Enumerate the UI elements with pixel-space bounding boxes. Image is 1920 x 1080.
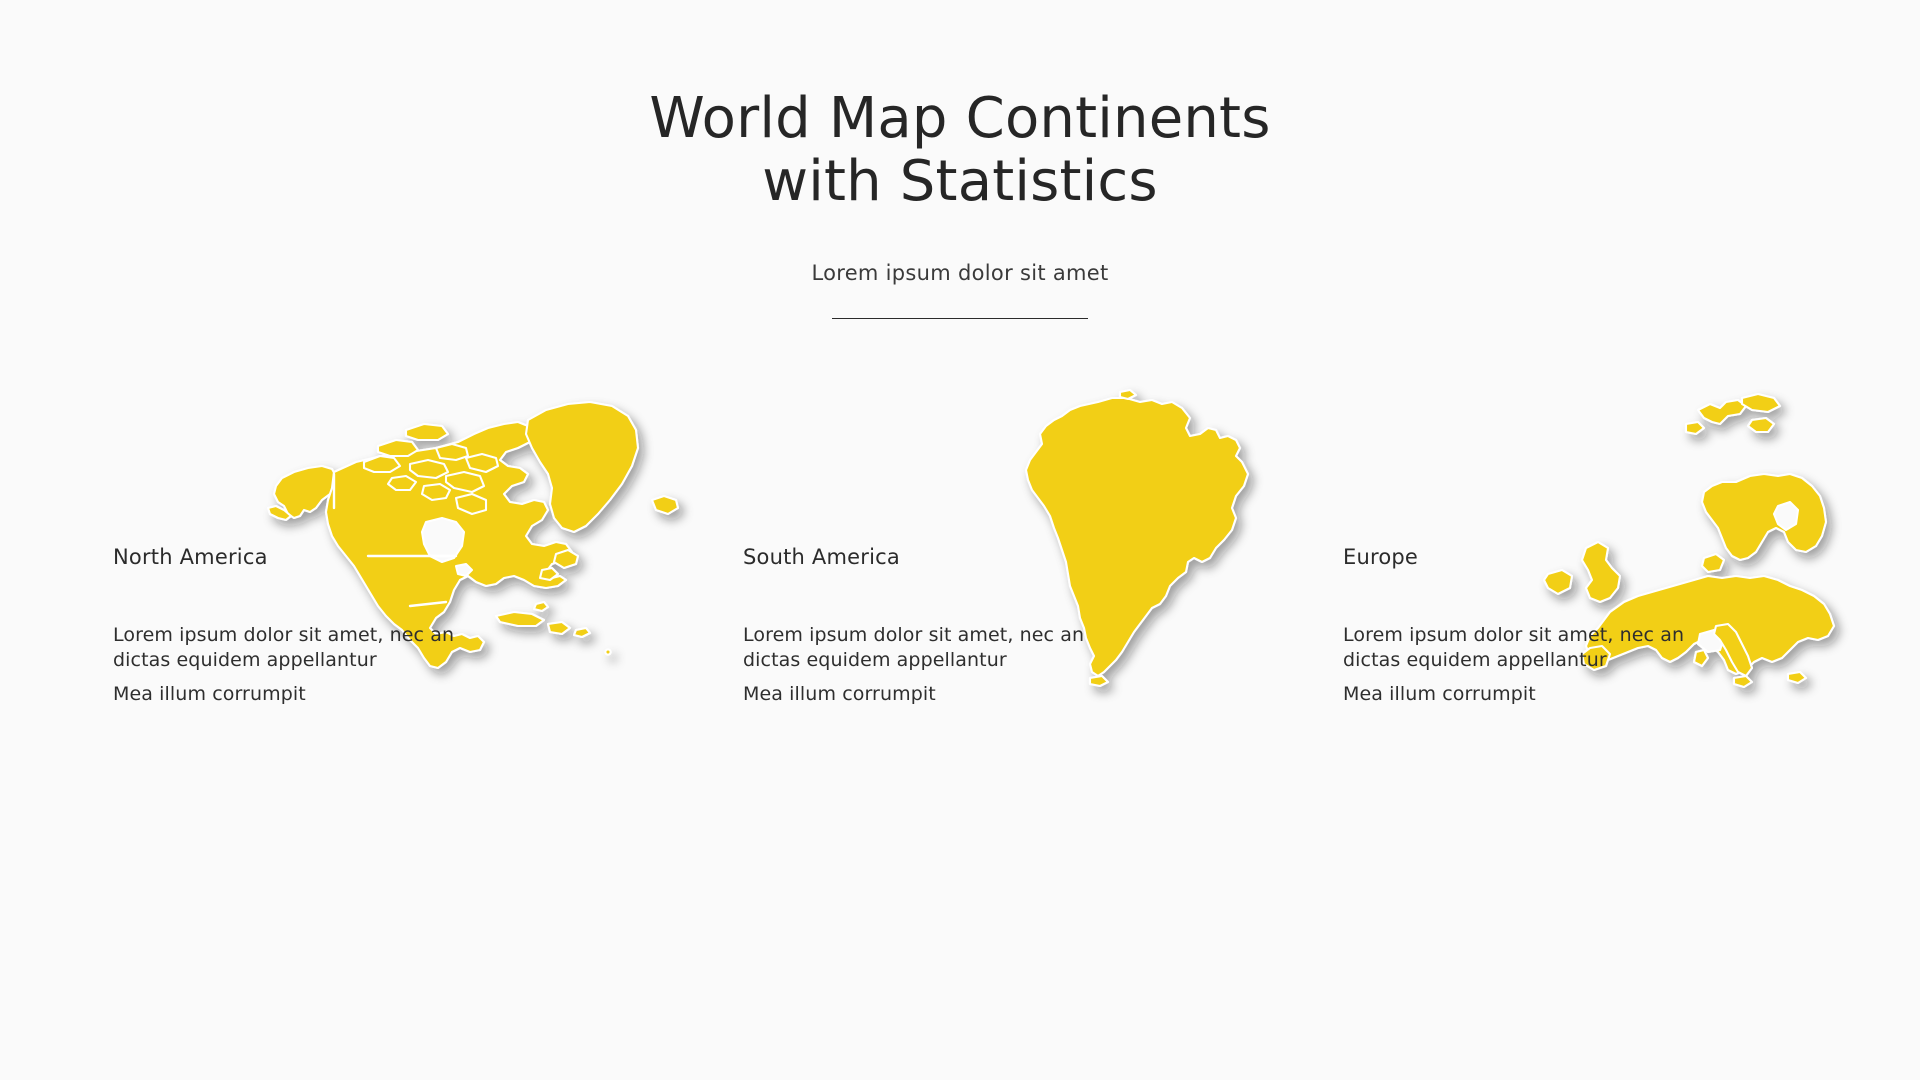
continent-columns: North America Lorem ipsum dolor sit amet…: [0, 390, 1920, 910]
continent-card-south-america[interactable]: South America Lorem ipsum dolor sit amet…: [710, 390, 1340, 910]
continent-stat-south-america: Mea illum corrumpit: [743, 682, 936, 707]
continent-description-north-america: Lorem ipsum dolor sit amet, nec an dicta…: [113, 623, 513, 673]
page-subtitle: Lorem ipsum dolor sit amet: [0, 213, 1920, 285]
continent-card-europe[interactable]: Europe Lorem ipsum dolor sit amet, nec a…: [1310, 390, 1920, 910]
header-divider: [832, 318, 1088, 319]
continent-description-south-america: Lorem ipsum dolor sit amet, nec an dicta…: [743, 623, 1143, 673]
continent-stat-europe: Mea illum corrumpit: [1343, 682, 1536, 707]
page-title: World Map Continents with Statistics: [0, 88, 1920, 213]
continent-label-europe: Europe: [1343, 545, 1418, 569]
continent-stat-north-america: Mea illum corrumpit: [113, 682, 306, 707]
continent-description-europe: Lorem ipsum dolor sit amet, nec an dicta…: [1343, 623, 1743, 673]
continent-card-north-america[interactable]: North America Lorem ipsum dolor sit amet…: [80, 390, 710, 910]
slide-canvas: World Map Continents with Statistics Lor…: [0, 0, 1920, 1080]
continent-label-south-america: South America: [743, 545, 900, 569]
header: World Map Continents with Statistics Lor…: [0, 88, 1920, 319]
divider-container: [0, 285, 1920, 319]
continent-label-north-america: North America: [113, 545, 268, 569]
